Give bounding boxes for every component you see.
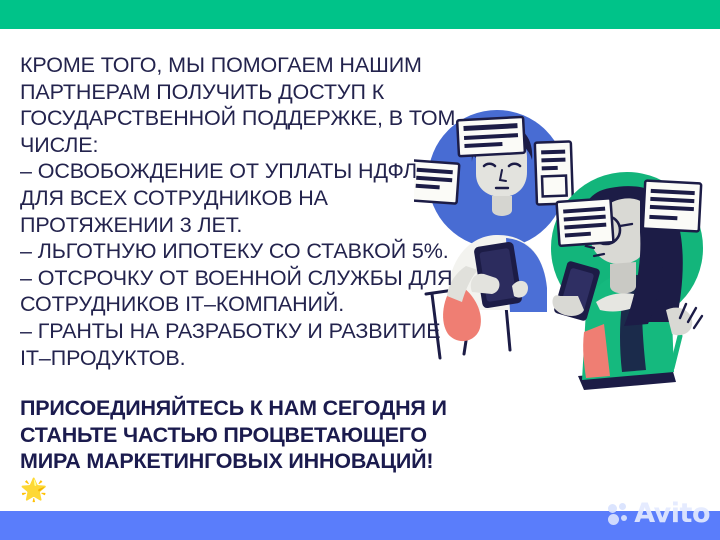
top-green-band <box>0 0 720 29</box>
copy-line-11: – ГРАНТЫ НА РАЗРАБОТКУ И РАЗВИТИЕ <box>20 318 440 345</box>
copy-line-3: ГОСУДАРСТВЕННОЙ ПОДДЕРЖКЕ, В ТОМ <box>20 105 440 132</box>
avito-logo-icon <box>608 503 630 525</box>
illustration-two-people-with-phones <box>414 96 720 426</box>
copy-line-2: ПАРТНЕРАМ ПОЛУЧИТЬ ДОСТУП К <box>20 79 440 106</box>
avito-wordmark: Avito <box>634 500 710 527</box>
call-to-action: ПРИСОЕДИНЯЙТЕСЬ К НАМ СЕГОДНЯ И СТАНЬТЕ … <box>20 395 460 502</box>
copy-line-6: ДЛЯ ВСЕХ СОТРУДНИКОВ НА <box>20 185 440 212</box>
avito-watermark: Avito <box>608 500 710 527</box>
cta-line-1: ПРИСОЕДИНЯЙТЕСЬ К НАМ СЕГОДНЯ И <box>20 395 460 422</box>
body-copy: КРОМЕ ТОГО, МЫ ПОМОГАЕМ НАШИМ ПАРТНЕРАМ … <box>20 52 440 371</box>
glowing-star-icon: 🌟 <box>20 478 460 502</box>
copy-line-8: – ЛЬГОТНУЮ ИПОТЕКУ СО СТАВКОЙ 5%. <box>20 238 440 265</box>
copy-line-5: – ОСВОБОЖДЕНИЕ ОТ УПЛАТЫ НДФЛ <box>20 158 440 185</box>
copy-line-9: – ОТСРОЧКУ ОТ ВОЕННОЙ СЛУЖБЫ ДЛЯ <box>20 265 440 292</box>
copy-line-1: КРОМЕ ТОГО, МЫ ПОМОГАЕМ НАШИМ <box>20 52 440 79</box>
copy-line-12: IT–ПРОДУКТОВ. <box>20 345 440 372</box>
right-figure-group <box>551 172 703 390</box>
promo-slide: КРОМЕ ТОГО, МЫ ПОМОГАЕМ НАШИМ ПАРТНЕРАМ … <box>0 0 720 540</box>
copy-line-10: СОТРУДНИКОВ IT–КОМПАНИЙ. <box>20 291 440 318</box>
cta-line-3: МИРА МАРКЕТИНГОВЫХ ИННОВАЦИЙ! <box>20 448 460 475</box>
copy-line-7: ПРОТЯЖЕНИИ 3 ЛЕТ. <box>20 212 440 239</box>
cta-line-2: СТАНЬТЕ ЧАСТЬЮ ПРОЦВЕТАЮЩЕГО <box>20 422 460 449</box>
copy-line-4: ЧИСЛЕ: <box>20 132 440 159</box>
